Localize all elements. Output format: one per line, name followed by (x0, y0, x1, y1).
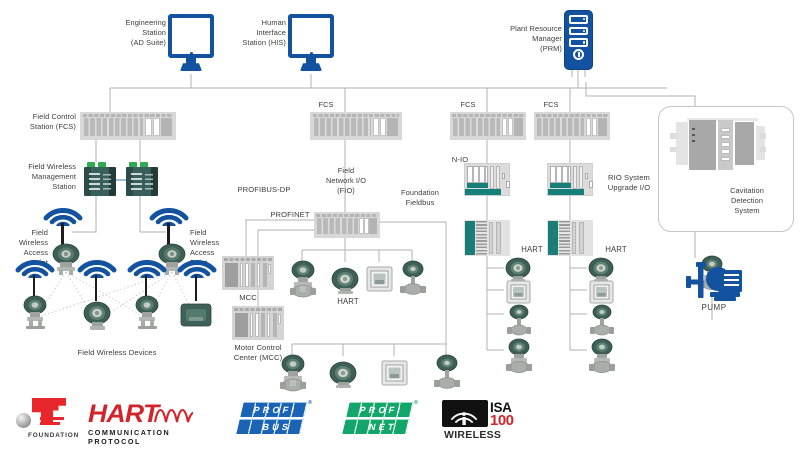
rack-top-strip (536, 114, 607, 117)
network-switch-icon-b[interactable] (126, 162, 158, 196)
controller-rack-icon-fcs3[interactable] (450, 112, 526, 140)
rack-cpu-b (502, 118, 507, 136)
hart-label-fio-row1: HART (322, 297, 374, 307)
io-terminal-strip (559, 221, 569, 254)
antenna-mast-device-2 (95, 275, 97, 301)
isa-wifi-i-mark (446, 402, 486, 426)
cds-status-leds (692, 128, 695, 144)
cds-mount-tab (670, 147, 676, 153)
foundation-fieldbus-logo: FOUNDATION (14, 398, 76, 444)
rack-io-cards (84, 118, 144, 136)
mcc-column (267, 313, 271, 337)
profibus-dp-label: PROFIBUS-DP (222, 185, 306, 195)
rio-module-a (573, 166, 577, 190)
io-module-b (579, 222, 584, 254)
engineering-station-monitor-icon[interactable] (168, 14, 214, 74)
cds-mount-tab (760, 147, 766, 153)
monitor-base (300, 63, 322, 71)
rio-teal-base (548, 189, 584, 195)
wireless-field-device-2[interactable] (80, 299, 114, 336)
power-button-icon (573, 49, 584, 60)
rack-top-strip (313, 114, 400, 117)
controller-rack-icon-fcs4[interactable] (534, 112, 610, 140)
nio-indicator (502, 173, 505, 180)
rack-io-cards (314, 118, 371, 136)
profinet-logo: PROFI NET ® (344, 402, 428, 442)
cavitation-detection-controller-icon[interactable] (670, 118, 766, 173)
switch-leds (103, 174, 111, 191)
mcc-column (255, 313, 259, 337)
rack-io-cards (317, 218, 358, 234)
mcc-indicator (278, 314, 281, 324)
mcc-panel-lower-icon[interactable] (232, 306, 284, 340)
mcc-main-block (235, 313, 249, 337)
pressure-transmitter-icon-h1-2[interactable] (330, 266, 361, 299)
rack-io-cards (537, 118, 584, 136)
pump-label: PUMP (686, 303, 742, 313)
rack-cpu-b (145, 118, 152, 136)
server-bay (569, 15, 588, 24)
rack-psu-a (369, 218, 377, 234)
flow-transmitter-icon-rio-4[interactable] (587, 338, 617, 381)
profibus-line1-tile: PROFI (240, 402, 307, 417)
profibus-line2-tile: BUS (236, 419, 303, 434)
wireless-field-device-1[interactable] (18, 294, 52, 335)
foundation-fieldbus-label: Foundation Fieldbus (392, 188, 448, 208)
switch-ports (131, 173, 142, 193)
profibus-line2-text: BUS (261, 422, 292, 432)
standards-logo-strip: FOUNDATION HART COMMUNICATION PROTOCOL P… (0, 392, 800, 466)
mcc-column (261, 313, 265, 337)
nio-slots (467, 166, 488, 183)
nio-teal-bar (467, 183, 488, 187)
foundation-globe-mark (16, 413, 31, 428)
mcc-short-label: MCC (222, 293, 274, 303)
valve-transmitter-icon-h2-4[interactable] (432, 354, 462, 397)
fcs4-label: FCS (531, 100, 571, 110)
cds-slot (721, 135, 731, 139)
rack-cpu-a (592, 118, 597, 136)
flow-transmitter-icon-nio-4[interactable] (504, 338, 534, 381)
profinet-line2-text: NET (368, 422, 398, 432)
fio-rack-icon[interactable] (314, 212, 380, 238)
human-interface-station-label: Human Interface Station (HIS) (216, 18, 286, 48)
isa-hundred-wordmark: 100 (490, 412, 514, 429)
mcc-top-strip (224, 258, 272, 261)
rio-system-upgrade-io-label: RIO System Upgrade I/O (595, 173, 663, 193)
io-module-a (572, 222, 577, 254)
antenna-mast-device-4 (195, 275, 197, 301)
rio-indicator (585, 173, 588, 180)
wireless-field-device-4[interactable] (178, 300, 214, 335)
hart-subtitle: COMMUNICATION PROTOCOL (88, 428, 218, 446)
rio-io-node-icon[interactable] (547, 220, 593, 256)
cavitation-detection-system-label: Cavitation Detection System (716, 186, 778, 216)
human-interface-station-monitor-icon[interactable] (288, 14, 334, 74)
foundation-stripe (40, 417, 64, 420)
rack-cpu-a (364, 218, 369, 234)
cds-module-3 (735, 122, 754, 165)
monitor-power-dot (310, 52, 313, 55)
mcc-column (250, 313, 254, 337)
tower-feet (564, 70, 593, 78)
profinet-registered-mark: ® (414, 400, 418, 406)
rack-cpu-a (380, 118, 386, 136)
io-module-a (489, 222, 494, 254)
cds-mount-tab (670, 133, 676, 139)
architecture-diagram: Engineering Station (AD Suite) Human Int… (0, 0, 800, 466)
server-bay (569, 27, 588, 36)
foundation-wordmark: FOUNDATION (28, 432, 79, 439)
rack-cpu-a (508, 118, 513, 136)
cds-slot (721, 128, 731, 132)
hart-logo: HART COMMUNICATION PROTOCOL (88, 402, 218, 442)
cds-slot (721, 157, 731, 161)
antenna-mast-right (167, 223, 170, 245)
nio-base-module-icon[interactable] (464, 163, 510, 196)
field-display-icon-h1-3[interactable] (366, 266, 393, 297)
foundation-stripe (40, 422, 60, 425)
io-terminal-strip (476, 221, 486, 254)
valve-transmitter-icon-h1-4[interactable] (398, 260, 428, 303)
mcc-main-block (225, 263, 239, 287)
antenna-mast-left (61, 223, 64, 245)
profibus-line1-text: PROFI (252, 405, 298, 415)
cds-slot (721, 142, 731, 146)
hart-label-nio: HART (512, 245, 552, 255)
cds-right-panel (756, 126, 765, 160)
switch-leds (145, 174, 153, 191)
hart-wave-mark (154, 404, 194, 431)
flow-transmitter-icon-h1-1[interactable] (287, 260, 319, 305)
field-control-station-label: Field Control Station (FCS) (12, 112, 76, 132)
io-teal-module (465, 221, 475, 254)
rio-indicator (589, 181, 592, 188)
rio-base-module-icon[interactable] (547, 163, 593, 196)
plant-resource-manager-label: Plant Resource Manager (PRM) (486, 24, 562, 54)
mcc-column (245, 263, 249, 287)
switch-ports (89, 173, 100, 193)
rio-teal-bar (550, 183, 571, 187)
rack-top-strip (316, 214, 378, 217)
rio-slots (550, 166, 571, 183)
mcc-column (263, 263, 267, 287)
engineering-station-label: Engineering Station (AD Suite) (96, 18, 166, 48)
fcs2-label: FCS (306, 100, 346, 110)
server-bay (569, 38, 588, 47)
io-module-b (496, 222, 501, 254)
cds-left-panel (676, 122, 688, 165)
nio-indicator (506, 181, 509, 188)
rack-psu-a (514, 118, 523, 136)
mcc-panel-upper-icon[interactable] (222, 256, 274, 290)
field-network-io-label: Field Network I/O (FIO) (310, 166, 382, 196)
isa100-wireless-logo: ISA 100 WIRELESS (442, 400, 534, 446)
controller-rack-icon-fcs2[interactable] (310, 112, 402, 140)
pressure-transmitter-icon-h2-2[interactable] (328, 360, 359, 393)
nio-teal-base (465, 189, 501, 195)
field-display-icon-h2-3[interactable] (381, 360, 408, 391)
wireless-field-device-3[interactable] (130, 294, 164, 335)
mcc-column (251, 263, 255, 287)
fcs3-label: FCS (448, 100, 488, 110)
rack-cpu-b (373, 118, 379, 136)
mcc-indicator (268, 264, 271, 274)
nio-module-a (490, 166, 494, 190)
profibus-registered-mark: ® (308, 400, 312, 406)
isa-wireless-wordmark: WIRELESS (444, 429, 501, 441)
rack-io-cards (453, 118, 500, 136)
rio-module-b (579, 166, 583, 190)
rack-top-strip (83, 114, 173, 117)
network-switch-icon-a[interactable] (84, 162, 116, 196)
nio-module-b (496, 166, 500, 190)
mcc-top-strip (234, 308, 282, 311)
rack-cpu-b (359, 218, 364, 234)
rack-cpu-b (586, 118, 591, 136)
rack-psu-a (161, 118, 173, 136)
profinet-label: PROFINET (258, 210, 322, 220)
monitor-power-dot (190, 52, 193, 55)
profibus-logo: PROFI BUS ® (238, 402, 322, 442)
io-teal-module (548, 221, 558, 254)
rack-top-strip (452, 114, 523, 117)
profinet-line1-text: PROFI (358, 405, 404, 415)
monitor-base (180, 63, 202, 71)
plant-resource-manager-server-tower-icon[interactable] (564, 10, 593, 70)
rack-psu-a (387, 118, 398, 136)
rack-psu-a (598, 118, 607, 136)
cds-slot (721, 149, 731, 153)
mcc-column (240, 263, 244, 287)
nio-io-node-icon[interactable] (464, 220, 510, 256)
hart-label-rio: HART (596, 245, 636, 255)
foundation-flag-mark (32, 398, 66, 424)
profinet-line1-tile: PROFI (346, 402, 413, 417)
field-wireless-devices-label: Field Wireless Devices (52, 348, 182, 358)
cds-mount-tab (760, 133, 766, 139)
controller-rack-icon-fcs1[interactable] (80, 112, 176, 140)
profinet-line2-tile: NET (342, 419, 409, 434)
rack-cpu-a (153, 118, 160, 136)
mcc-column (273, 313, 277, 337)
field-wireless-management-station-label: Field Wireless Management Station (14, 162, 76, 192)
mcc-column (257, 263, 261, 287)
